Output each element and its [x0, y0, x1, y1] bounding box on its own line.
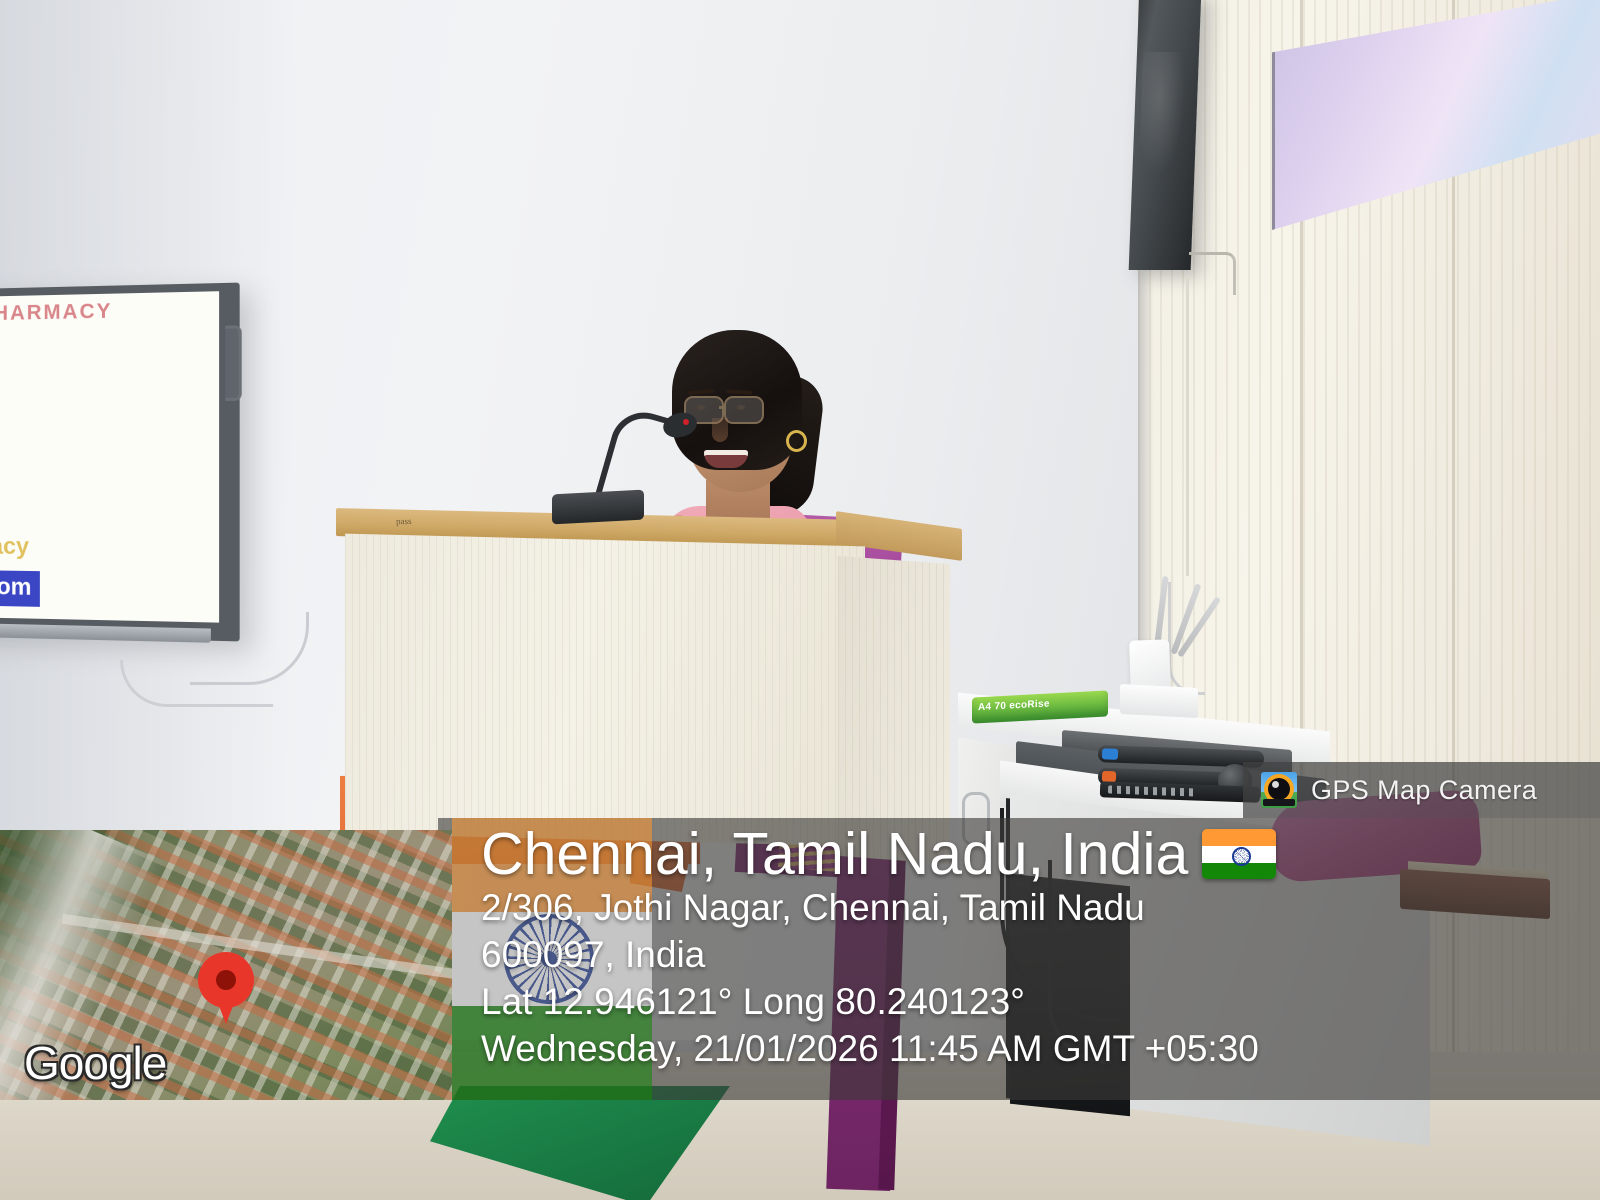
- interactive-whiteboard[interactable]: GE OF PHARMACY NCDE Trust oration of AM …: [0, 283, 240, 642]
- gps-info-text-block: Chennai, Tamil Nadu, India 2/306, Jothi …: [481, 824, 1591, 1073]
- earring: [786, 430, 807, 452]
- address-line-2: 600097, India: [481, 932, 1591, 979]
- icon-base-bar: [1263, 799, 1295, 806]
- eyeglasses-lens: [724, 396, 764, 424]
- google-watermark: Google: [24, 1036, 166, 1090]
- tricolour-logo-icon: [0, 369, 17, 478]
- mouth: [704, 450, 748, 468]
- coordinates-line: Lat 12.946121° Long 80.240123°: [481, 979, 1591, 1026]
- whiteboard-handle: [225, 325, 241, 401]
- ashoka-chakra-icon: [1232, 847, 1251, 866]
- microphone-base: [552, 490, 644, 525]
- slide-freedom-line: n of freedom: [0, 572, 31, 601]
- photo-canvas: GE OF PHARMACY NCDE Trust oration of AM …: [0, 0, 1600, 1200]
- pin-dot: [216, 970, 236, 990]
- camera-lens-icon: [1268, 778, 1290, 800]
- eyeglasses-bridge: [719, 406, 726, 409]
- slide-heading: GE OF PHARMACY: [0, 300, 112, 328]
- nose: [712, 418, 728, 442]
- location-title: Chennai, Tamil Nadu, India: [481, 824, 1188, 885]
- slide-freedom-highlight: n of freedom: [0, 569, 40, 607]
- flag-saffron-band: [1202, 829, 1276, 846]
- podium-marking: pass: [396, 516, 430, 524]
- whiteboard-cable: [120, 660, 273, 707]
- gps-map-camera-badge: GPS Map Camera: [1243, 762, 1600, 818]
- slide-legacy-line: A Legacy: [0, 532, 29, 561]
- microphone-led-indicator: [683, 419, 689, 425]
- timestamp-line: Wednesday, 21/01/2026 11:45 AM GMT +05:3…: [481, 1026, 1591, 1073]
- presentation-slide: GE OF PHARMACY NCDE Trust oration of AM …: [0, 291, 219, 622]
- address-line-1: 2/306, Jothi Nagar, Chennai, Tamil Nadu: [481, 885, 1591, 932]
- gps-map-camera-label: GPS Map Camera: [1311, 775, 1537, 806]
- speaker-bracket: [1189, 252, 1236, 295]
- speaker-cable: [1186, 276, 1189, 576]
- slide-participate-line: articipate: [0, 622, 5, 623]
- podium-front: [345, 534, 865, 847]
- gps-camera-app-icon: [1261, 772, 1297, 808]
- location-pin-icon: [198, 952, 254, 1024]
- wall-speaker: [1129, 0, 1202, 270]
- location-title-row: Chennai, Tamil Nadu, India: [481, 824, 1591, 885]
- router-stand-box: [1120, 684, 1198, 718]
- router-cable: [1168, 582, 1205, 695]
- whiteboard-screen: GE OF PHARMACY NCDE Trust oration of AM …: [0, 291, 219, 622]
- india-flag-icon: [1202, 829, 1276, 879]
